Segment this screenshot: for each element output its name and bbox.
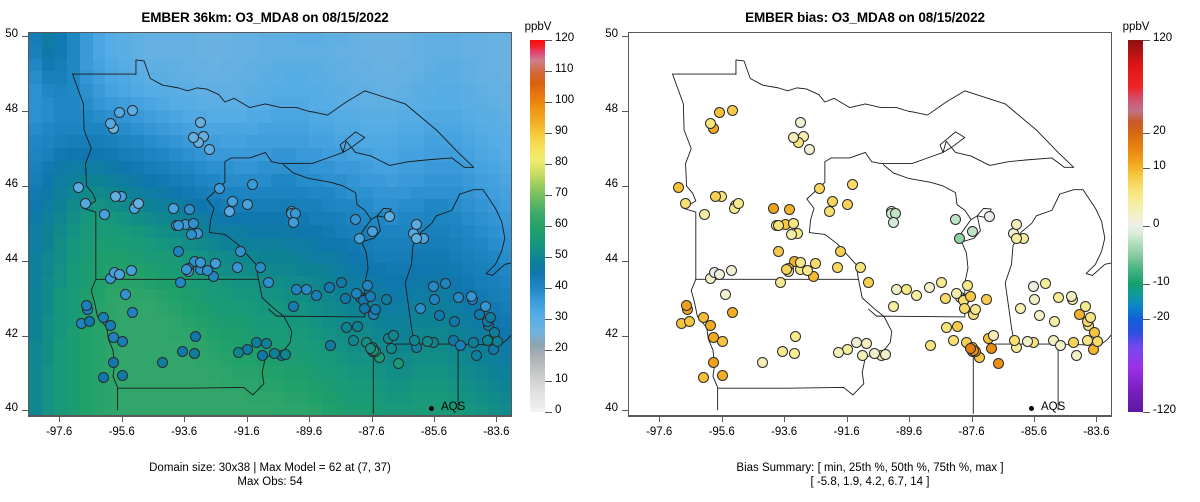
- aqs-station-point: [1074, 309, 1085, 320]
- aqs-station-point: [993, 358, 1004, 369]
- aqs-station-layer-bias: [629, 33, 1111, 415]
- x-tick: [496, 416, 497, 422]
- aqs-station-point: [788, 132, 799, 143]
- aqs-station-point: [365, 343, 376, 354]
- aqs-station-point: [965, 343, 976, 354]
- x-tick: [784, 416, 785, 422]
- colorbar-tick: [545, 133, 552, 134]
- aqs-station-point: [810, 258, 821, 269]
- aqs-station-point: [336, 277, 347, 288]
- aqs-station-point: [492, 336, 503, 347]
- y-tick-label: 46: [0, 178, 18, 190]
- x-axis-model: [28, 416, 512, 417]
- aqs-station-point: [181, 264, 192, 275]
- panel-title-bias: EMBER bias: O3_MDA8 on 08/15/2022: [600, 10, 1130, 25]
- aqs-station-point: [468, 337, 479, 348]
- x-tick-label: -87.6: [942, 426, 1002, 438]
- aqs-station-point: [341, 322, 352, 333]
- aqs-station-point: [324, 282, 335, 293]
- y-tick-label: 46: [600, 178, 618, 190]
- aqs-station-point: [842, 199, 853, 210]
- aqs-station-point: [795, 257, 806, 268]
- aqs-legend-label: AQS: [441, 401, 465, 413]
- x-tick: [722, 416, 723, 422]
- aqs-station-point: [384, 211, 395, 222]
- aqs-station-point: [857, 350, 868, 361]
- aqs-station-point: [1092, 336, 1103, 347]
- aqs-station-point: [449, 316, 460, 327]
- aqs-station-point: [777, 346, 788, 357]
- aqs-station-point: [773, 246, 784, 257]
- aqs-station-point: [717, 336, 728, 347]
- aqs-station-point: [788, 218, 799, 229]
- map-plot-model: AQS: [28, 32, 512, 416]
- y-tick-label: 44: [0, 253, 18, 265]
- aqs-station-point: [474, 309, 485, 320]
- caption-bias-line2: [ -5.8, 1.9, 4.2, 6.7, 14 ]: [600, 475, 1140, 489]
- colorbar-tick-label: 90: [555, 125, 568, 137]
- aqs-station-point: [386, 343, 397, 354]
- aqs-station-point: [409, 335, 420, 346]
- aqs-station-point: [684, 316, 695, 327]
- aqs-station-point: [673, 182, 684, 193]
- colorbar-tick: [1143, 284, 1150, 285]
- x-tick-label: -85.6: [1004, 426, 1064, 438]
- aqs-station-point: [680, 198, 691, 209]
- colorbar-tick: [545, 288, 552, 289]
- aqs-station-point: [434, 310, 445, 321]
- aqs-station-point: [80, 198, 91, 209]
- y-tick: [22, 111, 28, 112]
- x-tick: [122, 416, 123, 422]
- caption-model-line2: Max Obs: 54: [0, 475, 540, 489]
- aqs-station-point: [367, 226, 378, 237]
- x-tick-label: -93.6: [154, 426, 214, 438]
- aqs-marker-icon: [429, 406, 434, 411]
- aqs-station-point: [99, 209, 110, 220]
- aqs-station-point: [984, 211, 995, 222]
- aqs-station-point: [1022, 336, 1033, 347]
- colorbar-tick-label: 120: [1153, 32, 1172, 44]
- aqs-station-point: [127, 105, 138, 116]
- aqs-marker-icon: [1029, 406, 1034, 411]
- aqs-station-point: [727, 105, 738, 116]
- colorbar-tick-label: 0: [555, 404, 561, 416]
- aqs-station-point: [790, 331, 801, 342]
- x-tick: [247, 416, 248, 422]
- x-tick: [1096, 416, 1097, 422]
- y-axis-model: [28, 32, 29, 416]
- aqs-station-point: [727, 307, 738, 318]
- aqs-station-point: [1040, 278, 1051, 289]
- aqs-station-point: [775, 277, 786, 288]
- x-tick: [59, 416, 60, 422]
- y-tick-label: 48: [600, 103, 618, 115]
- aqs-station-point: [789, 348, 800, 359]
- aqs-station-point: [280, 349, 291, 360]
- x-tick-label: -95.6: [692, 426, 752, 438]
- x-tick: [309, 416, 310, 422]
- y-axis-bias: [628, 32, 629, 416]
- aqs-station-point: [388, 330, 399, 341]
- aqs-station-point: [986, 343, 997, 354]
- aqs-station-point: [177, 346, 188, 357]
- x-tick-label: -97.6: [29, 426, 89, 438]
- aqs-station-point: [888, 217, 899, 228]
- colorbar-tick: [545, 164, 552, 165]
- aqs-station-point: [455, 340, 466, 351]
- aqs-station-point: [114, 269, 125, 280]
- colorbar-tick-label: 110: [555, 63, 573, 75]
- aqs-station-point: [1029, 294, 1040, 305]
- aqs-station-point: [350, 214, 361, 225]
- aqs-station-point: [1028, 281, 1039, 292]
- aqs-station-point: [784, 204, 795, 215]
- aqs-station-point: [422, 336, 433, 347]
- aqs-station-point: [924, 282, 935, 293]
- x-tick: [909, 416, 910, 422]
- aqs-station-point: [936, 277, 947, 288]
- aqs-station-point: [429, 294, 440, 305]
- figure-root: EMBER 36km: O3_MDA8 on 08/15/2022 AQS -9…: [0, 0, 1200, 502]
- aqs-station-point: [714, 107, 725, 118]
- y-tick: [22, 36, 28, 37]
- y-tick: [622, 186, 628, 187]
- aqs-station-point: [1068, 337, 1079, 348]
- aqs-station-point: [354, 233, 365, 244]
- y-tick-label: 44: [600, 253, 618, 265]
- aqs-station-point: [98, 372, 109, 383]
- aqs-station-point: [1085, 312, 1096, 323]
- aqs-station-point: [705, 320, 716, 331]
- aqs-station-point: [485, 312, 496, 323]
- aqs-station-layer-model: [29, 33, 511, 415]
- aqs-station-point: [1034, 310, 1045, 321]
- x-tick-label: -91.6: [217, 426, 277, 438]
- aqs-station-point: [965, 291, 976, 302]
- aqs-station-point: [962, 280, 973, 291]
- colorbar-tick-label: 40: [555, 280, 568, 292]
- aqs-station-point: [726, 265, 737, 276]
- x-tick-label: -85.6: [404, 426, 464, 438]
- aqs-station-point: [352, 321, 363, 332]
- aqs-station-point: [861, 338, 872, 349]
- aqs-station-point: [1009, 335, 1020, 346]
- colorbar-tick: [545, 226, 552, 227]
- panel-title-model: EMBER 36km: O3_MDA8 on 08/15/2022: [0, 10, 530, 25]
- aqs-station-point: [950, 214, 961, 225]
- colorbar-tick-label: 30: [555, 311, 568, 323]
- aqs-station-point: [381, 294, 392, 305]
- x-tick: [972, 416, 973, 422]
- x-axis-bias: [628, 416, 1112, 417]
- aqs-legend-label: AQS: [1041, 401, 1065, 413]
- x-tick-label: -83.6: [466, 426, 526, 438]
- aqs-station-point: [940, 293, 951, 304]
- aqs-station-point: [188, 218, 199, 229]
- y-tick-label: 42: [600, 328, 618, 340]
- aqs-station-point: [288, 217, 299, 228]
- aqs-station-point: [814, 183, 825, 194]
- colorbar-tick: [545, 319, 552, 320]
- aqs-station-point: [863, 277, 874, 288]
- aqs-station-point: [804, 144, 815, 155]
- aqs-station-point: [288, 301, 299, 312]
- colorbar-tick-label: -20: [1153, 311, 1170, 323]
- aqs-station-point: [428, 281, 439, 292]
- colorbar-tick-label: 10: [1153, 160, 1166, 172]
- y-tick: [22, 336, 28, 337]
- x-tick-label: -89.6: [879, 426, 939, 438]
- colorbar-tick: [545, 40, 552, 41]
- y-tick: [622, 111, 628, 112]
- aqs-station-point: [117, 336, 128, 347]
- aqs-station-point: [114, 107, 125, 118]
- x-tick-label: -87.6: [342, 426, 402, 438]
- aqs-station-point: [757, 357, 768, 368]
- aqs-station-point: [263, 277, 274, 288]
- aqs-station-point: [415, 303, 426, 314]
- aqs-station-point: [224, 206, 235, 217]
- aqs-station-point: [1049, 316, 1060, 327]
- aqs-station-point: [210, 258, 221, 269]
- colorbar-tick: [1143, 168, 1150, 169]
- aqs-station-point: [925, 340, 936, 351]
- y-tick: [22, 261, 28, 262]
- colorbar-tick: [1143, 319, 1150, 320]
- aqs-station-point: [440, 278, 451, 289]
- aqs-station-point: [948, 335, 959, 346]
- aqs-station-point: [257, 350, 268, 361]
- aqs-station-point: [204, 144, 215, 155]
- x-tick-label: -97.6: [629, 426, 689, 438]
- colorbar-tick-label: 0: [1153, 218, 1159, 230]
- aqs-station-point: [1071, 350, 1082, 361]
- x-tick-label: -89.6: [279, 426, 339, 438]
- aqs-station-point: [705, 118, 716, 129]
- aqs-station-point: [133, 198, 144, 209]
- colorbar-tick-label: 20: [1153, 125, 1166, 137]
- aqs-station-point: [247, 179, 258, 190]
- x-tick-label: -83.6: [1066, 426, 1126, 438]
- aqs-station-point: [967, 226, 978, 237]
- aqs-station-point: [681, 300, 692, 311]
- y-tick: [622, 261, 628, 262]
- aqs-station-point: [720, 289, 731, 300]
- colorbar-tick-label: -10: [1153, 276, 1170, 288]
- aqs-station-point: [255, 262, 266, 273]
- x-tick: [434, 416, 435, 422]
- caption-model-line1: Domain size: 30x38 | Max Model = 62 at (…: [0, 461, 540, 475]
- colorbar-tick: [545, 350, 552, 351]
- aqs-station-point: [362, 280, 373, 291]
- panel-model: EMBER 36km: O3_MDA8 on 08/15/2022 AQS -9…: [0, 0, 600, 502]
- aqs-station-point: [824, 206, 835, 217]
- x-tick: [372, 416, 373, 422]
- aqs-station-point: [168, 203, 179, 214]
- aqs-station-point: [981, 294, 992, 305]
- aqs-station-point: [880, 349, 891, 360]
- aqs-station-point: [195, 117, 206, 128]
- aqs-station-point: [365, 291, 376, 302]
- x-tick: [847, 416, 848, 422]
- colorbar-tick-label: 10: [555, 373, 568, 385]
- aqs-station-point: [847, 179, 858, 190]
- y-tick-label: 40: [600, 402, 618, 414]
- colorbar-tick: [545, 71, 552, 72]
- aqs-station-point: [84, 316, 95, 327]
- y-tick: [22, 410, 28, 411]
- aqs-station-point: [1015, 303, 1026, 314]
- y-tick-label: 50: [0, 28, 18, 40]
- y-tick: [622, 410, 628, 411]
- colorbar-tick: [545, 102, 552, 103]
- panel-bias: EMBER bias: O3_MDA8 on 08/15/2022 AQS -9…: [600, 0, 1200, 502]
- colorbar-tick: [545, 381, 552, 382]
- aqs-station-point: [781, 264, 792, 275]
- aqs-station-point: [888, 301, 899, 312]
- aqs-station-point: [411, 219, 422, 230]
- y-tick: [622, 336, 628, 337]
- colorbar-tick: [545, 412, 552, 413]
- aqs-station-point: [1011, 219, 1022, 230]
- aqs-station-point: [1011, 233, 1022, 244]
- x-tick-label: -93.6: [754, 426, 814, 438]
- aqs-station-point: [733, 198, 744, 209]
- colorbar-tick-label: 20: [555, 342, 568, 354]
- aqs-station-point: [173, 220, 184, 231]
- y-tick: [22, 186, 28, 187]
- y-tick-label: 48: [0, 103, 18, 115]
- aqs-station-point: [105, 118, 116, 129]
- aqs-station-point: [714, 269, 725, 280]
- aqs-station-point: [126, 265, 137, 276]
- x-tick-label: -91.6: [817, 426, 877, 438]
- aqs-station-point: [708, 357, 719, 368]
- aqs-station-point: [466, 291, 477, 302]
- aqs-station-point: [952, 321, 963, 332]
- x-tick: [659, 416, 660, 422]
- aqs-station-point: [189, 348, 200, 359]
- colorbar-tick: [1143, 133, 1150, 134]
- aqs-station-point: [108, 357, 119, 368]
- aqs-station-point: [233, 347, 244, 358]
- aqs-station-point: [835, 246, 846, 257]
- aqs-station-point: [195, 257, 206, 268]
- colorbar-tick: [1143, 412, 1150, 413]
- aqs-station-point: [348, 335, 359, 346]
- aqs-station-point: [941, 322, 952, 333]
- colorbar-tick-label: 70: [555, 187, 568, 199]
- aqs-station-point: [911, 290, 922, 301]
- colorbar-tick-label: -120: [1153, 404, 1176, 416]
- x-tick: [1034, 416, 1035, 422]
- x-tick-label: -95.6: [92, 426, 152, 438]
- colorbar-tick: [1143, 40, 1150, 41]
- aqs-station-point: [127, 307, 138, 318]
- aqs-station-point: [235, 246, 246, 257]
- aqs-station-point: [471, 350, 482, 361]
- aqs-station-point: [261, 338, 272, 349]
- colorbar-gradient: [530, 40, 545, 412]
- aqs-station-point: [453, 292, 464, 303]
- aqs-station-point: [832, 262, 843, 273]
- aqs-station-point: [311, 290, 322, 301]
- aqs-station-point: [242, 199, 253, 210]
- colorbar-tick: [545, 195, 552, 196]
- aqs-station-point: [954, 233, 965, 244]
- aqs-station-point: [73, 182, 84, 193]
- aqs-station-point: [1055, 340, 1066, 351]
- aqs-station-point: [184, 204, 195, 215]
- colorbar-tick-label: 120: [555, 32, 574, 44]
- colorbar-tick-label: 60: [555, 218, 568, 230]
- aqs-station-point: [340, 293, 351, 304]
- aqs-station-point: [173, 246, 184, 257]
- y-tick-label: 40: [0, 402, 18, 414]
- aqs-station-point: [120, 289, 131, 300]
- y-tick-label: 50: [600, 28, 618, 40]
- caption-bias-line1: Bias Summary: [ min, 25th %, 50th %, 75t…: [600, 461, 1140, 475]
- aqs-station-point: [117, 370, 128, 381]
- aqs-station-point: [855, 262, 866, 273]
- aqs-station-point: [370, 304, 381, 315]
- aqs-station-point: [393, 358, 404, 369]
- colorbar-tick: [1143, 226, 1150, 227]
- aqs-station-point: [699, 209, 710, 220]
- colorbar-tick-label: 50: [555, 249, 568, 261]
- aqs-station-point: [81, 300, 92, 311]
- map-plot-bias: AQS: [628, 32, 1112, 416]
- aqs-station-point: [190, 331, 201, 342]
- aqs-station-point: [175, 277, 186, 288]
- colorbar-tick-label: 100: [555, 94, 574, 106]
- aqs-station-point: [833, 347, 844, 358]
- aqs-station-point: [105, 320, 116, 331]
- aqs-station-point: [188, 132, 199, 143]
- colorbar-tick: [545, 257, 552, 258]
- aqs-station-point: [214, 183, 225, 194]
- colorbar-gradient: [1128, 40, 1143, 412]
- aqs-station-point: [325, 340, 336, 351]
- aqs-station-point: [1053, 292, 1064, 303]
- aqs-station-point: [1066, 291, 1077, 302]
- colorbar-tick-label: 80: [555, 156, 568, 168]
- x-tick: [184, 416, 185, 422]
- aqs-station-point: [970, 304, 981, 315]
- y-tick-label: 42: [0, 328, 18, 340]
- aqs-station-point: [157, 357, 168, 368]
- aqs-station-point: [768, 203, 779, 214]
- aqs-station-point: [795, 117, 806, 128]
- y-tick: [622, 36, 628, 37]
- aqs-station-point: [698, 372, 709, 383]
- aqs-station-point: [988, 330, 999, 341]
- aqs-station-point: [232, 262, 243, 273]
- aqs-station-point: [717, 370, 728, 381]
- aqs-station-point: [773, 220, 784, 231]
- aqs-station-point: [411, 233, 422, 244]
